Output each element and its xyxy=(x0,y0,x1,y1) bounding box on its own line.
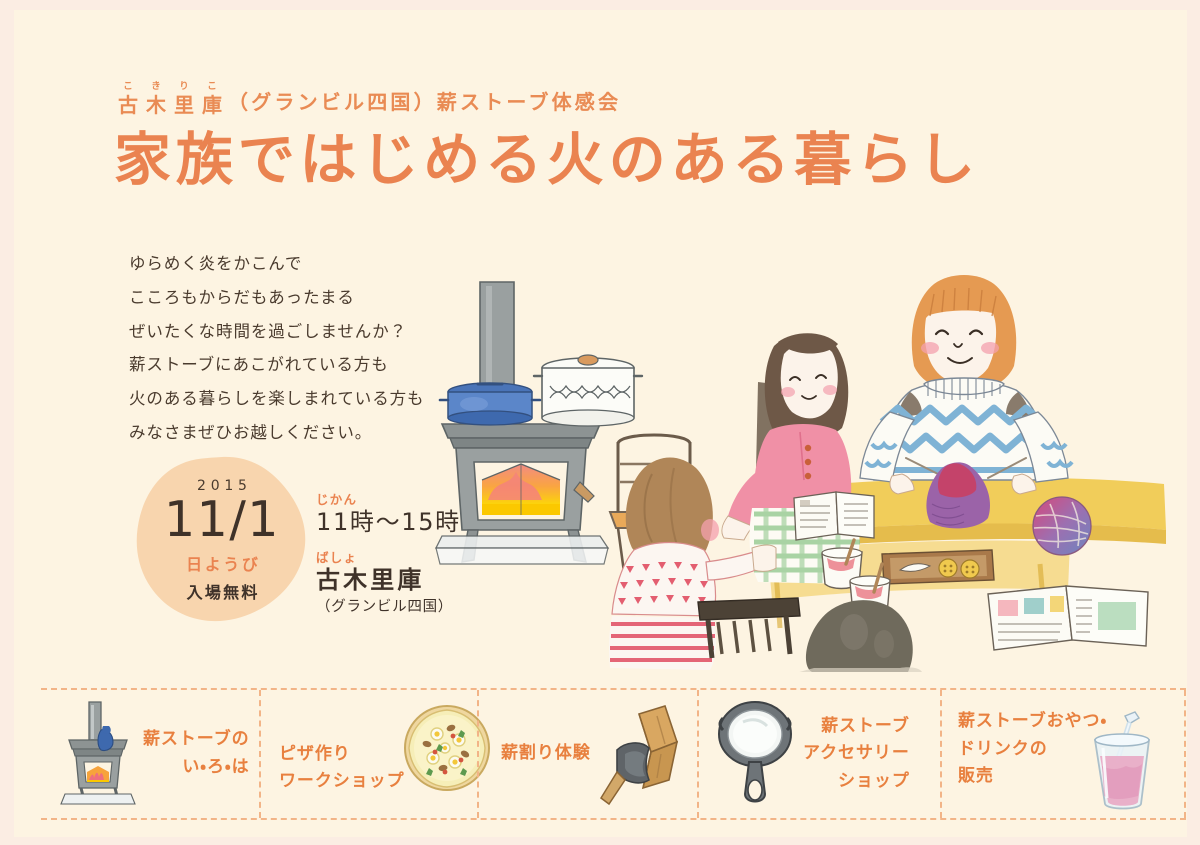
white-pot-icon xyxy=(534,355,642,426)
feature-label: ピザ作り ワークショップ xyxy=(279,741,405,796)
lead-line: ぜいたくな時間を過ごしませんか？ xyxy=(129,315,469,349)
axe-and-log-icon xyxy=(595,702,687,806)
lead-line: みなさまぜひお越しください。 xyxy=(129,416,469,450)
eyebrow-line: こ 古 き 木 り 里 こ 庫 （グランビル四国）薪ストーブ体感会 xyxy=(114,82,1014,115)
feature-label: 薪ストーブの い・ろ・は xyxy=(143,726,250,781)
skillet-icon xyxy=(713,698,797,810)
lead-copy: ゆらめく炎をかこんで こころもからだもあったまる ぜいたくな時間を過ごしませんか… xyxy=(129,247,469,450)
ruby-base-1: 古 xyxy=(114,95,142,115)
ruby-group-3: り 里 xyxy=(170,82,198,115)
feature-item-wood-stove-basics[interactable]: 薪ストーブの い・ろ・は xyxy=(41,690,259,818)
lead-line: 薪ストーブにあこがれている方も xyxy=(129,348,469,382)
feature-item-log-splitting[interactable]: 薪割り体験 xyxy=(477,690,697,818)
feature-item-accessory-shop[interactable]: 薪ストーブ アクセサリー ショップ xyxy=(697,690,940,818)
child-dark-hair-illustration xyxy=(788,600,922,672)
ruby-text-3: り xyxy=(176,82,191,92)
lead-line: こころもからだもあったまる xyxy=(129,281,469,315)
wood-stove-illustration xyxy=(436,282,642,564)
drink-glass-icon xyxy=(1081,710,1163,812)
feature-item-pizza-workshop[interactable]: ピザ作り ワークショップ xyxy=(259,690,477,818)
poster-root: こ 古 き 木 り 里 こ 庫 （グランビル四国）薪ストーブ体感会 家族ではじめ… xyxy=(0,0,1200,845)
ruby-text-2: き xyxy=(148,82,163,92)
date-badge: 2015 11/1 日ようび 入場無料 xyxy=(136,455,308,625)
ruby-group-2: き 木 xyxy=(142,82,170,115)
badge-date: 11/1 xyxy=(164,495,280,544)
feature-strip: 薪ストーブの い・ろ・は ピザ作り ワークショップ xyxy=(41,688,1186,820)
blue-pot-icon xyxy=(440,383,540,425)
ruby-base-4: 庫 xyxy=(198,95,226,115)
badge-admission: 入場無料 xyxy=(184,579,259,603)
ruby-text-4: こ xyxy=(204,82,219,92)
open-book-right-illustration xyxy=(988,586,1148,650)
ruby-group-1: こ 古 xyxy=(114,82,142,115)
ruby-text-1: こ xyxy=(120,82,135,92)
eyebrow-rest: （グランビル四国）薪ストーブ体感会 xyxy=(228,86,621,115)
page-title: 家族ではじめる火のある暮らし xyxy=(114,129,1014,192)
feature-label: 薪割り体験 xyxy=(501,740,591,768)
lead-line: ゆらめく炎をかこんで xyxy=(129,247,469,281)
open-book-left-illustration xyxy=(794,492,874,540)
lead-line: 火のある暮らしを楽しまれている方も xyxy=(129,382,469,416)
ruby-base-2: 木 xyxy=(142,95,170,115)
sewing-tray-illustration xyxy=(882,550,994,584)
feature-item-snacks-drinks[interactable]: 薪ストーブおやつ・ ドリンクの 販売 xyxy=(940,690,1186,818)
mother-in-pink-illustration xyxy=(722,333,860,584)
yarn-ball-illustration xyxy=(1033,497,1091,555)
ruby-base-3: 里 xyxy=(170,95,198,115)
header: こ 古 き 木 り 里 こ 庫 （グランビル四国）薪ストーブ体感会 家族ではじめ… xyxy=(114,82,1014,191)
poster-panel: こ 古 き 木 り 里 こ 庫 （グランビル四国）薪ストーブ体感会 家族ではじめ… xyxy=(14,10,1187,837)
badge-day-of-week: 日ようび xyxy=(184,551,261,575)
hero-illustration xyxy=(422,272,1182,672)
wood-stove-icon xyxy=(55,700,141,808)
ruby-group-4: こ 庫 xyxy=(198,82,226,115)
feature-label: 薪ストーブ アクセサリー ショップ xyxy=(803,713,910,796)
